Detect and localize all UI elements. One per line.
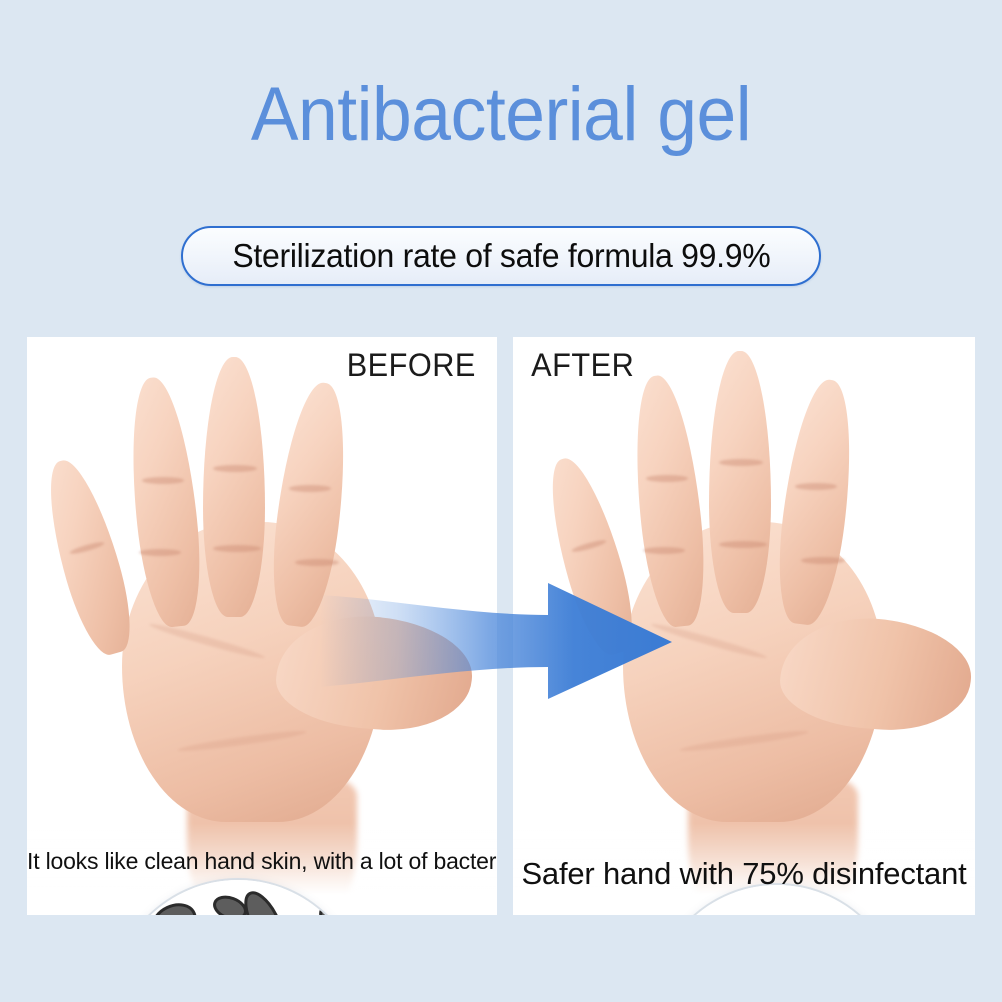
knuckle-crease (643, 547, 685, 554)
arrow-right-icon (320, 575, 680, 705)
knuckle-crease (719, 459, 763, 466)
page-title: Antibacterial gel (30, 72, 972, 158)
sterilization-rate-text: Sterilization rate of safe formula 99.9% (232, 237, 770, 275)
knuckle-crease (801, 557, 845, 564)
knuckle-crease (289, 485, 331, 492)
knuckle-crease (139, 549, 181, 556)
before-caption: It looks like clean hand skin, with a lo… (27, 848, 497, 875)
finger-index (122, 375, 208, 630)
knuckle-crease (213, 465, 257, 472)
knuckle-crease (646, 475, 688, 482)
sterilization-rate-badge: Sterilization rate of safe formula 99.9% (181, 226, 821, 286)
promo-image: Antibacterial gel Sterilization rate of … (0, 0, 1002, 1002)
finger-middle (709, 351, 771, 613)
transition-arrow (320, 575, 680, 705)
knuckle-crease (795, 483, 837, 490)
finger-pinky (35, 453, 143, 660)
knuckle-crease (213, 545, 261, 552)
knuckle-crease (295, 559, 339, 566)
knuckle-crease (142, 477, 184, 484)
finger-middle (203, 357, 265, 617)
after-caption: Safer hand with 75% disinfectant (513, 856, 975, 892)
knuckle-crease (719, 541, 767, 548)
